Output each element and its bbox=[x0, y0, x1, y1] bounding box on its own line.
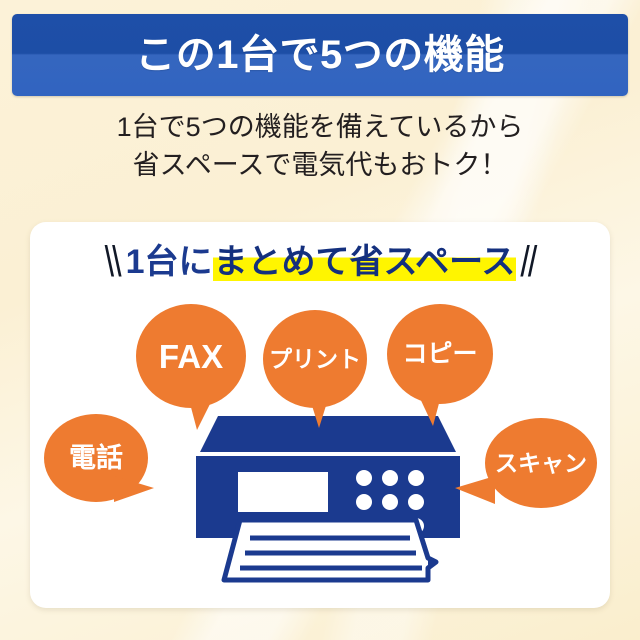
bubble-phone[interactable]: 電話 bbox=[44, 414, 148, 502]
bubble-print-label: プリント bbox=[269, 348, 361, 371]
card-heading: \\ 1台にまとめて省スペース // bbox=[30, 238, 610, 286]
card-heading-text: 1台にまとめて省スペース bbox=[126, 245, 517, 279]
card-heading-highlighted: まとめて省スペース bbox=[213, 243, 517, 281]
bubble-fax[interactable]: FAX bbox=[136, 304, 246, 408]
bubble-copy-tail bbox=[417, 392, 442, 426]
printer-illustration bbox=[178, 410, 478, 590]
printer-display bbox=[238, 472, 328, 512]
header-banner: この1台で5つの機能 bbox=[12, 14, 628, 96]
bubble-scan[interactable]: スキャン bbox=[485, 418, 597, 508]
bubble-copy[interactable]: コピー bbox=[387, 304, 493, 404]
slash-left-decoration: \\ bbox=[105, 241, 120, 284]
bubble-scan-tail bbox=[455, 476, 495, 504]
feature-card: \\ 1台にまとめて省スペース // bbox=[30, 222, 610, 608]
subtitle-block: 1台で5つの機能を備えているから 省スペースで電気代もおトク！ bbox=[0, 108, 640, 185]
bubble-phone-label: 電話 bbox=[69, 445, 123, 472]
card-heading-plain: 1台に bbox=[126, 243, 213, 281]
bubble-fax-label: FAX bbox=[159, 340, 223, 373]
subtitle-line-1: 1台で5つの機能を備えているから bbox=[0, 108, 640, 146]
bubble-phone-tail bbox=[114, 476, 154, 502]
bubble-print-tail bbox=[309, 396, 329, 428]
bubble-scan-label: スキャン bbox=[495, 452, 587, 475]
infographic-page: この1台で5つの機能 1台で5つの機能を備えているから 省スペースで電気代もおト… bbox=[0, 0, 640, 640]
subtitle-line-2: 省スペースで電気代もおトク！ bbox=[0, 146, 640, 184]
banner-title: この1台で5つの機能 bbox=[135, 35, 505, 75]
printer-output-paper bbox=[224, 520, 436, 580]
bubble-copy-label: コピー bbox=[402, 342, 477, 367]
slash-right-decoration: // bbox=[520, 241, 535, 284]
bubble-print[interactable]: プリント bbox=[263, 310, 367, 408]
bubble-fax-tail bbox=[188, 396, 214, 430]
